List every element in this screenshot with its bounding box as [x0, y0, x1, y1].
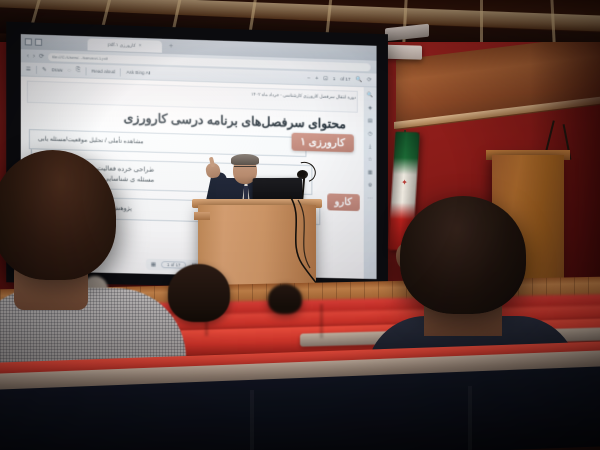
browser-tab[interactable]: کارورزی ۱.pdf ×: [88, 38, 162, 52]
search-icon[interactable]: 🔍: [367, 92, 373, 98]
tab-close-icon[interactable]: ×: [139, 42, 142, 48]
menu-icon[interactable]: ☰: [26, 66, 31, 72]
forward-icon[interactable]: ›: [33, 53, 35, 59]
browser-sidebar: 🔍 ◈ ▤ ◷ ⤓ ☆ ▦ ⚙ ⋯: [364, 87, 377, 279]
new-tab-icon[interactable]: +: [169, 43, 173, 50]
seat-divider: [320, 304, 323, 338]
favorites-icon[interactable]: ☆: [368, 157, 372, 163]
page-current-input[interactable]: 1: [333, 76, 336, 81]
erase-icon[interactable]: ◌: [68, 67, 71, 73]
audience-head: [268, 284, 302, 314]
browser-tab-title: کارورزی ۱.pdf: [108, 41, 136, 48]
window-minimize-icon[interactable]: [35, 39, 42, 46]
zoom-out-button[interactable]: −: [307, 75, 310, 81]
podium-cable: [286, 196, 346, 288]
thumbnail-icon[interactable]: ▦: [151, 261, 156, 267]
fit-page-icon[interactable]: ⊡: [323, 75, 328, 81]
search-icon[interactable]: 🔍: [355, 76, 362, 82]
rotate-icon[interactable]: ⟳: [367, 77, 372, 83]
flag-emblem-icon: ✦: [400, 178, 409, 188]
syllabus-row-1-text: مشاهده تأملی / تحلیل موقعیت/مسئله یابی: [38, 135, 144, 147]
back-icon[interactable]: ‹: [27, 53, 29, 59]
read-aloud-button[interactable]: Read aloud: [92, 69, 116, 75]
downloads-icon[interactable]: ⤓: [369, 144, 371, 150]
copilot-icon[interactable]: ◈: [368, 105, 372, 111]
speaker-hair: [231, 154, 259, 165]
lecture-hall-photo: کارورزی ۱.pdf × + ‹ › ⟳ file:///C:/Users…: [0, 0, 600, 450]
podium-side-ledge: [194, 212, 210, 220]
seat-divider: [468, 386, 472, 450]
highlight-icon[interactable]: ✎: [42, 67, 47, 73]
history-icon[interactable]: ◷: [368, 131, 372, 137]
window-restore-icon[interactable]: [25, 38, 32, 45]
badge-karvarzi-1: کارورزی ۱: [291, 133, 354, 153]
text-tool-icon[interactable]: ⎘: [76, 67, 80, 74]
ask-bing-ai-button[interactable]: Ask Bing AI: [126, 70, 150, 76]
settings-icon[interactable]: ⚙: [368, 183, 372, 189]
slide-title: محتوای سرفصل‌های برنامه درسی کارورزی: [124, 110, 346, 132]
audience-head-foreground-right: [400, 196, 526, 314]
zoom-in-button[interactable]: +: [315, 75, 318, 81]
seat-divider: [250, 390, 254, 450]
refresh-icon[interactable]: ⟳: [39, 53, 44, 60]
apps-icon[interactable]: ▦: [368, 170, 373, 176]
collections-icon[interactable]: ▤: [368, 118, 373, 124]
audience-head: [168, 264, 230, 322]
speaker-glasses: [234, 166, 256, 171]
more-icon[interactable]: ⋯: [368, 195, 373, 201]
draw-button[interactable]: Draw: [52, 67, 63, 72]
page-total-label: of 17: [340, 76, 350, 81]
